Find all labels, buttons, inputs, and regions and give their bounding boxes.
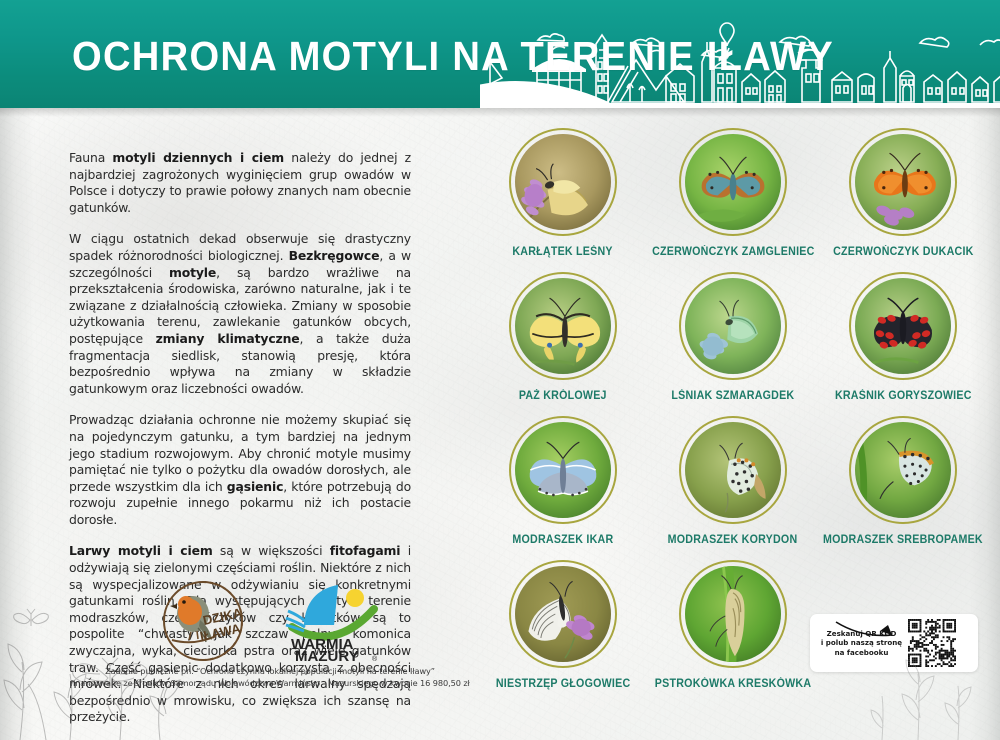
karlatek-lesny-photo <box>515 134 611 230</box>
photo-ring <box>849 416 957 524</box>
photo-scene <box>685 422 781 518</box>
species-card-lsniak-szmaragdek-photo[interactable]: LŚNIAK SZMARAGDEK <box>648 272 818 416</box>
poster-header: OCHRONA MOTYLI NA TERENIE IŁAWY <box>0 0 1000 108</box>
czerwonczyk-dukacik-photo <box>855 134 951 230</box>
pstrokowka-kreskowka-photo <box>685 566 781 662</box>
photo-scene <box>855 278 951 374</box>
species-card-paz-krolowej-photo[interactable]: PAŹ KRÓLOWEJ <box>478 272 648 416</box>
photo-ring <box>849 272 957 380</box>
paz-krolowej-photo <box>515 278 611 374</box>
photo-ring <box>849 128 957 236</box>
species-caption: NIESTRZĘP GŁOGOWIEC <box>496 677 631 690</box>
photo-scene <box>515 422 611 518</box>
species-card-karlatek-lesny-photo[interactable]: KARŁĄTEK LEŚNY <box>478 128 648 272</box>
photo-scene <box>685 566 781 662</box>
species-caption: MODRASZEK KORYDON <box>668 533 798 546</box>
photo-scene <box>515 278 611 374</box>
warmia-mazury-logo: WARMIA MAZURY ® <box>284 579 382 663</box>
species-caption: LŚNIAK SZMARAGDEK <box>671 389 794 402</box>
header-shadow <box>0 108 1000 117</box>
photo-ring <box>509 128 617 236</box>
modraszek-srebropamek-photo <box>855 422 951 518</box>
qr-code[interactable] <box>908 619 956 667</box>
photo-ring <box>509 272 617 380</box>
qr-card[interactable]: Zeskanuj QR KOD i polub naszą stronę na … <box>810 614 978 672</box>
species-card-czerwonczyk-zamgleniec-photo[interactable]: CZERWOŃCZYK ZAMGLENIEC <box>648 128 818 272</box>
species-caption: PSTROKÓWKA KRESKÓWKA <box>655 677 812 690</box>
modraszek-ikar-photo <box>515 422 611 518</box>
photo-ring <box>509 560 617 668</box>
photo-scene <box>685 278 781 374</box>
species-caption: MODRASZEK IKAR <box>513 533 614 546</box>
species-caption: KRAŚNIK GORYSZOWIEC <box>835 389 972 402</box>
photo-ring <box>679 560 787 668</box>
species-row: PAŹ KRÓLOWEJLŚNIAK SZMARAGDEKKRAŚNIK GOR… <box>478 272 988 416</box>
funding-note: Zadanie publiczne pn. “Ochrona czynna lo… <box>60 666 480 689</box>
photo-scene <box>515 566 611 662</box>
species-caption: MODRASZEK SREBROPAMEK <box>823 533 983 546</box>
funding-line-1: Zadanie publiczne pn. “Ochrona czynna lo… <box>60 666 480 678</box>
photo-ring <box>679 128 787 236</box>
photo-scene <box>515 134 611 230</box>
species-caption: CZERWOŃCZYK DUKACIK <box>833 245 973 258</box>
article-paragraph-2: W ciągu ostatnich dekad obserwuje się dr… <box>69 231 411 397</box>
species-card-modraszek-srebropamek-photo[interactable]: MODRASZEK SREBROPAMEK <box>818 416 988 560</box>
lsniak-szmaragdek-photo <box>685 278 781 374</box>
poster-root: OCHRONA MOTYLI NA TERENIE IŁAWY Fauna mo… <box>0 0 1000 740</box>
photo-ring <box>679 416 787 524</box>
species-caption: KARŁĄTEK LEŚNY <box>513 245 613 258</box>
curved-arrow-icon <box>832 618 902 640</box>
photo-ring <box>509 416 617 524</box>
czerwonczyk-zamgleniec-photo <box>685 134 781 230</box>
species-row: MODRASZEK IKARMODRASZEK KORYDONMODRASZEK… <box>478 416 988 560</box>
dzika-ilawa-logo: DZIKA IŁAWA <box>160 578 246 664</box>
logo-warmia-line2: MAZURY <box>295 648 359 663</box>
niestrzep-glogowiec-photo <box>515 566 611 662</box>
species-card-krasnik-goryszowiec-photo[interactable]: KRAŚNIK GORYSZOWIEC <box>818 272 988 416</box>
photo-scene <box>855 422 951 518</box>
species-card-niestrzep-glogowiec-photo[interactable]: NIESTRZĘP GŁOGOWIEC <box>478 560 648 704</box>
species-row: KARŁĄTEK LEŚNYCZERWOŃCZYK ZAMGLENIECCZER… <box>478 128 988 272</box>
article-paragraph-1: Fauna motyli dziennych i ciem należy do … <box>69 150 411 216</box>
logo-warmia-mark: ® <box>372 655 378 663</box>
left-print-edge <box>0 0 34 740</box>
article-paragraph-3: Prowadząc działania ochronne nie możemy … <box>69 412 411 528</box>
species-caption: PAŹ KRÓLOWEJ <box>519 389 607 402</box>
species-card-pstrokowka-kreskowka-photo[interactable]: PSTROKÓWKA KRESKÓWKA <box>648 560 818 704</box>
photo-ring <box>679 272 787 380</box>
page-title: OCHRONA MOTYLI NA TERENIE IŁAWY <box>72 33 834 80</box>
partner-logos: DZIKA IŁAWA WARMIA MAZURY ® <box>160 578 382 664</box>
species-card-modraszek-korydon-photo[interactable]: MODRASZEK KORYDON <box>648 416 818 560</box>
species-card-czerwonczyk-dukacik-photo[interactable]: CZERWOŃCZYK DUKACIK <box>818 128 988 272</box>
species-card-modraszek-ikar-photo[interactable]: MODRASZEK IKAR <box>478 416 648 560</box>
species-caption: CZERWOŃCZYK ZAMGLENIEC <box>652 245 814 258</box>
funding-line-2: finansowane ze środków Samorządu Wojewód… <box>60 678 480 690</box>
photo-scene <box>855 134 951 230</box>
qr-line-3: na facebooku <box>817 648 906 657</box>
modraszek-korydon-photo <box>685 422 781 518</box>
krasnik-goryszowiec-photo <box>855 278 951 374</box>
photo-scene <box>685 134 781 230</box>
